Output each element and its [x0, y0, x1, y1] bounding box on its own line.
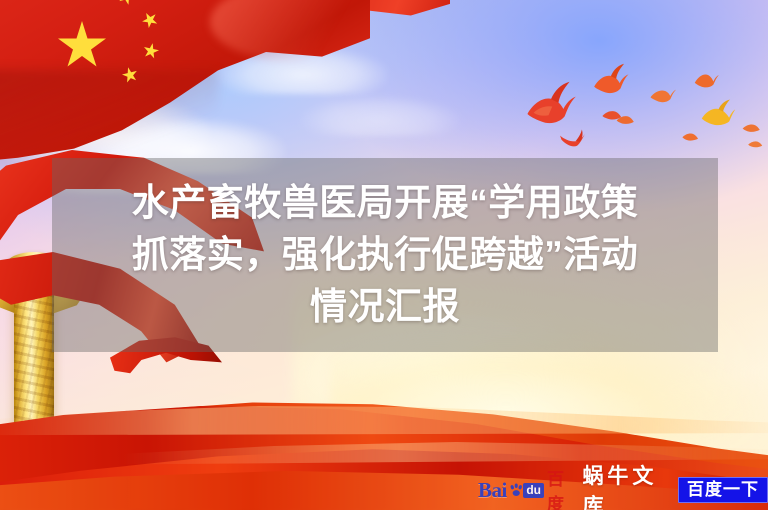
baidu-chinese-text: 百度: [547, 465, 571, 510]
dove-icon: [614, 110, 636, 126]
poster-canvas: 水产畜牧兽医局开展“学用政策 抓落实，强化执行促跨越”活动 情况汇报 Bai d…: [0, 0, 768, 510]
watermark-bar: Bai du 百度 蜗牛文库 百度一下: [478, 474, 768, 506]
baidu-bai-text: Bai: [478, 478, 507, 503]
title-overlay-panel: 水产畜牧兽医局开展“学用政策 抓落实，强化执行促跨越”活动 情况汇报: [52, 158, 718, 352]
dove-icon: [556, 122, 590, 150]
dove-icon: [698, 98, 736, 130]
dove-icon: [520, 78, 582, 128]
dove-icon: [646, 80, 678, 106]
baidu-logo[interactable]: Bai du 百度: [478, 465, 571, 510]
baidu-paw-icon: [509, 481, 524, 500]
title-line-1: 水产畜牧兽医局开展“学用政策: [132, 177, 639, 229]
dove-icon: [588, 62, 632, 100]
baidu-du-text: du: [523, 483, 544, 498]
dove-icon: [740, 118, 762, 134]
baidu-search-button[interactable]: 百度一下: [678, 477, 768, 503]
dove-icon: [690, 66, 720, 94]
dove-icon: [680, 128, 700, 142]
dove-icon: [746, 136, 764, 150]
title-line-3: 情况汇报: [310, 281, 460, 333]
title-line-2: 抓落实，强化执行促跨越”活动: [132, 229, 639, 281]
site-brand-label: 蜗牛文库: [582, 460, 671, 510]
